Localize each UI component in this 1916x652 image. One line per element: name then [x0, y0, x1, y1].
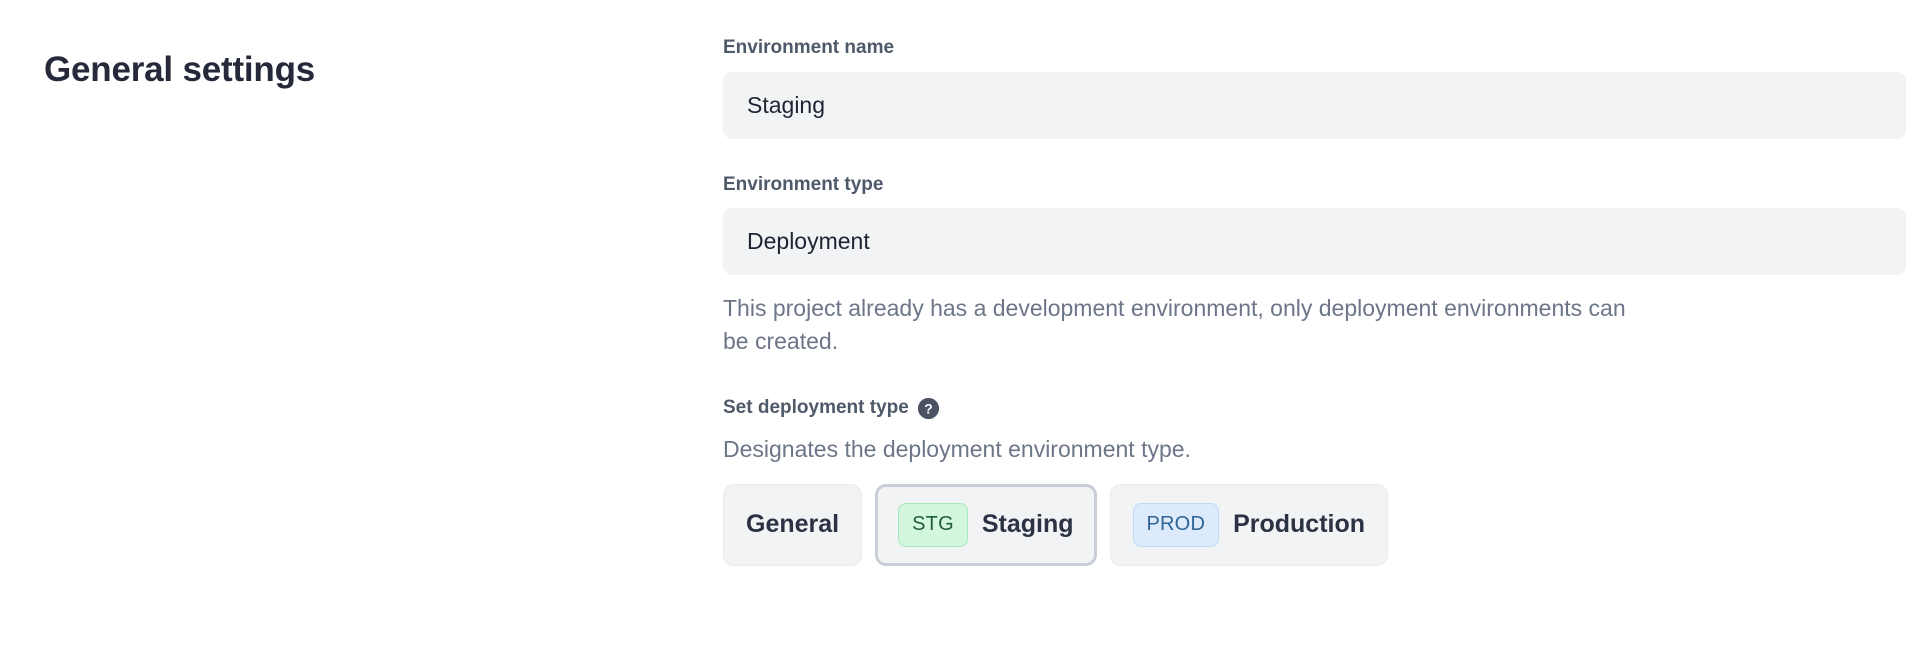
environment-name-input[interactable]: [723, 72, 1906, 139]
environment-type-label: Environment type: [723, 173, 1878, 198]
environment-name-label: Environment name: [723, 36, 1878, 61]
deployment-type-field: Set deployment type ? Designates the dep…: [723, 396, 1878, 566]
deployment-type-options: General STG Staging PROD Production: [723, 484, 1878, 566]
option-label-staging: Staging: [982, 510, 1074, 539]
settings-form: Environment name Environment type This p…: [723, 36, 1878, 566]
option-label-general: General: [746, 510, 839, 539]
prod-badge: PROD: [1133, 503, 1220, 547]
option-label-production: Production: [1233, 510, 1365, 539]
environment-type-help-text: This project already has a development e…: [723, 292, 1643, 357]
environment-type-field: Environment type This project already ha…: [723, 173, 1878, 358]
deployment-type-label: Set deployment type: [723, 396, 909, 421]
stg-badge: STG: [898, 503, 968, 547]
page-title: General settings: [44, 49, 315, 91]
svg-text:?: ?: [924, 400, 933, 416]
deployment-type-description: Designates the deployment environment ty…: [723, 433, 1878, 465]
deployment-type-label-row: Set deployment type ?: [723, 396, 1878, 421]
question-mark-circle-icon[interactable]: ?: [918, 398, 939, 419]
deployment-type-option-general[interactable]: General: [723, 484, 862, 566]
general-settings-page: General settings Environment name Enviro…: [0, 0, 1916, 652]
deployment-type-option-production[interactable]: PROD Production: [1110, 484, 1389, 566]
environment-type-input[interactable]: [723, 208, 1906, 275]
deployment-type-option-staging[interactable]: STG Staging: [875, 484, 1096, 566]
environment-name-field: Environment name: [723, 36, 1878, 139]
